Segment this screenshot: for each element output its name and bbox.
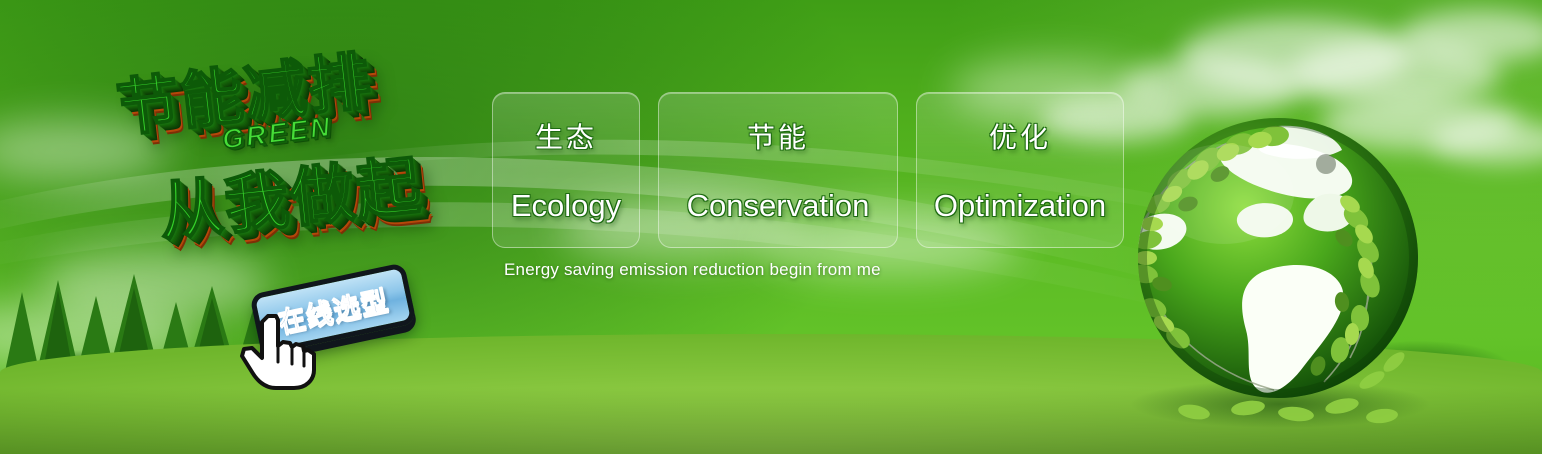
leafy-earth-globe-icon: [1128, 108, 1438, 428]
card-title-cn: 节能: [747, 116, 809, 156]
card-title-cn: 生态: [535, 116, 597, 156]
pointing-hand-cursor-icon: [238, 312, 324, 390]
eco-promo-banner: 节能减排 GREEN 从我做起 在线选型 生态 Ecology 节能 Conse…: [0, 0, 1542, 454]
feature-card-list: 生态 Ecology 节能 Conservation 优化 Optimizati…: [492, 92, 1124, 248]
cloud-icon: [1430, 120, 1542, 164]
feature-card-conservation[interactable]: 节能 Conservation: [658, 92, 898, 248]
card-title-cn: 优化: [989, 116, 1051, 156]
feature-card-ecology[interactable]: 生态 Ecology: [492, 92, 640, 248]
headline-logo: 节能减排 GREEN 从我做起: [100, 38, 490, 268]
online-selection-cta[interactable]: 在线选型: [246, 272, 426, 384]
card-title-en: Optimization: [934, 188, 1106, 224]
feature-card-optimization[interactable]: 优化 Optimization: [916, 92, 1124, 248]
card-title-en: Ecology: [511, 188, 621, 224]
logo-line-2: 从我做起: [154, 134, 426, 253]
card-title-en: Conservation: [687, 188, 870, 224]
banner-tagline: Energy saving emission reduction begin f…: [504, 260, 881, 280]
